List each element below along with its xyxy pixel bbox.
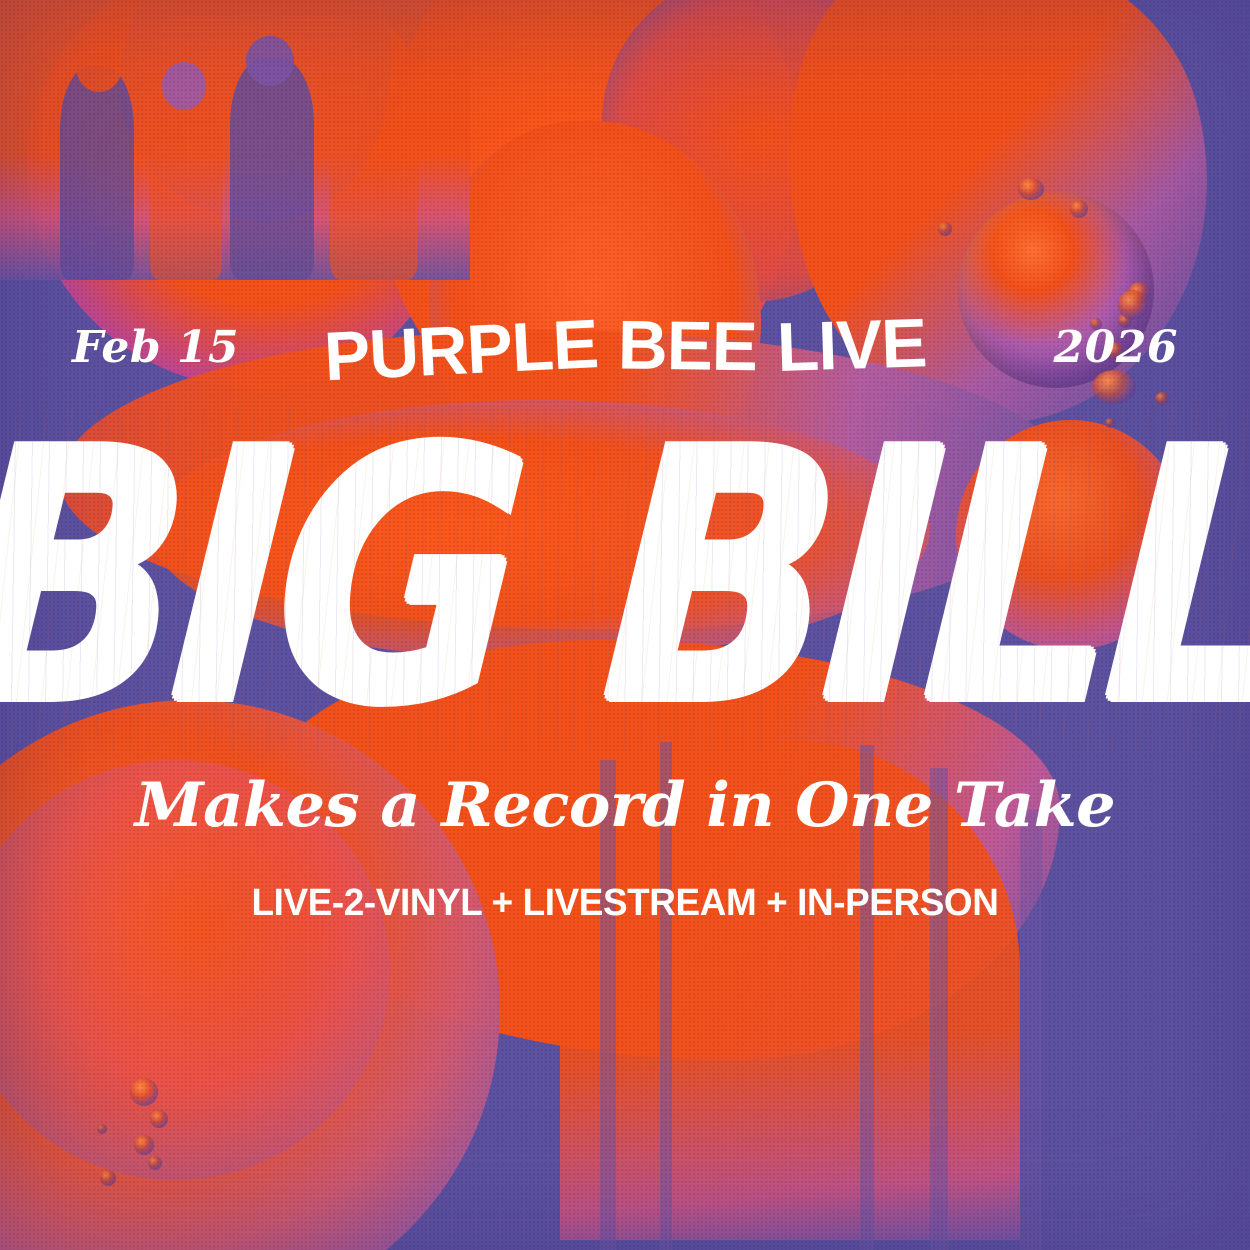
event-date: Feb 15 <box>72 322 239 373</box>
poster-text-content: Feb 15 PURPLE BEE LIVE 2026 BIG BILL Mak… <box>0 0 1250 1250</box>
presenter-word-3: LIVE <box>776 308 927 382</box>
event-formats-tagline: LIVE-2-VINYL + LIVESTREAM + IN-PERSON <box>19 884 1232 922</box>
presenter-name: PURPLE BEE LIVE <box>324 309 927 384</box>
presenter-word-2: BEE <box>617 310 757 381</box>
concert-poster: Feb 15 PURPLE BEE LIVE 2026 BIG BILL Mak… <box>0 0 1250 1250</box>
event-year: 2026 <box>1054 322 1178 373</box>
event-subtitle: Makes a Record in One Take <box>0 775 1250 836</box>
artist-title-wrapper: BIG BILL <box>0 404 1250 754</box>
artist-name-title: BIG BILL <box>0 419 1250 739</box>
